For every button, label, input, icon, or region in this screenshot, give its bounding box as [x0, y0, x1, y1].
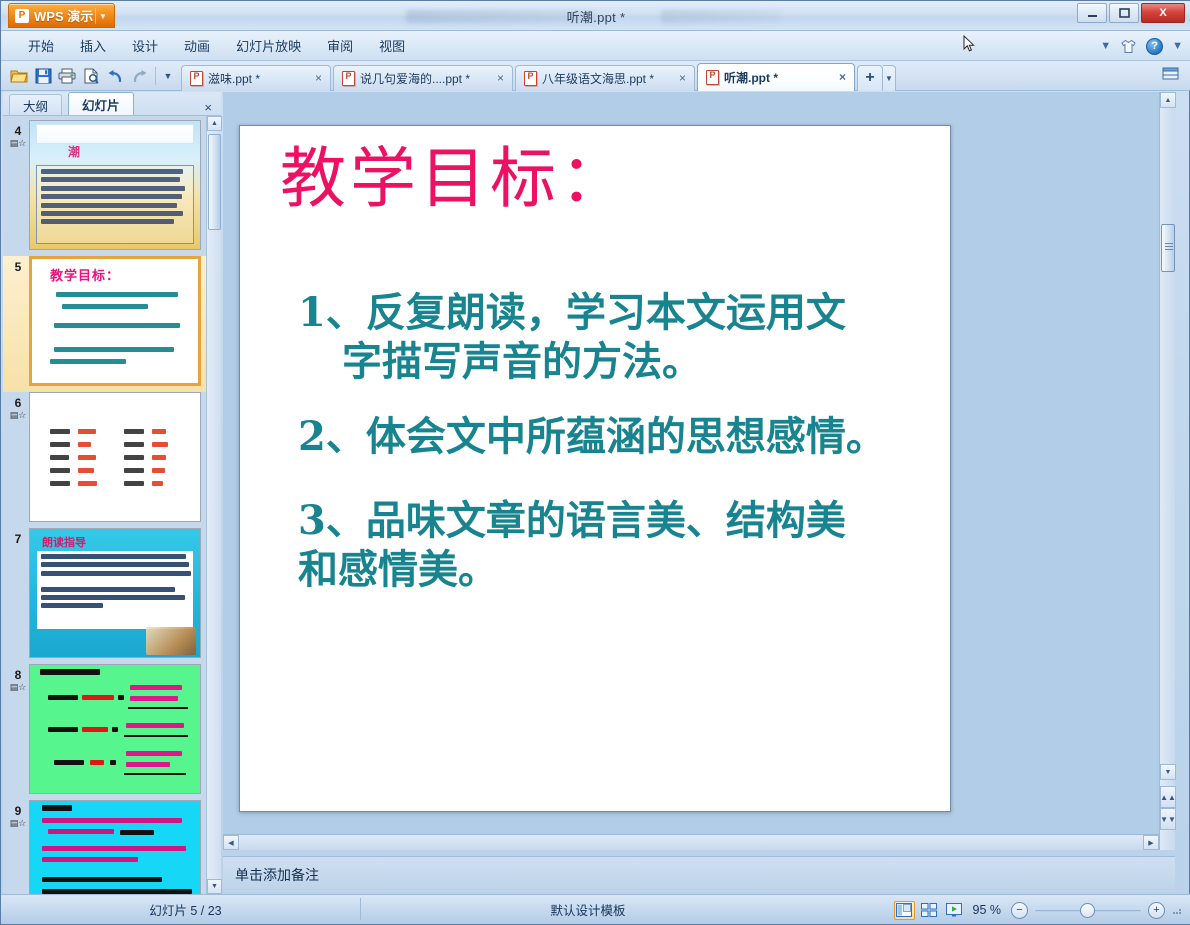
thumbnail-preview	[29, 392, 201, 522]
doc-tab-label: 八年级语文海思.ppt *	[542, 70, 654, 87]
toolbar: ▼ 滋味.ppt * × 说几句爱海的....ppt * × 八年级语文海思.p…	[1, 61, 1190, 91]
doc-tab-1[interactable]: 说几句爱海的....ppt * ×	[333, 65, 513, 91]
animation-star-icon: ▤☆	[7, 410, 29, 421]
thumbnail-meta: 8 ▤☆	[7, 664, 29, 794]
close-button[interactable]: X	[1141, 3, 1185, 23]
status-bar: 幻灯片 5 / 23 默认设计模板	[1, 894, 1190, 924]
chevron-down-icon[interactable]: ▼	[95, 8, 110, 24]
scroll-down-icon[interactable]: ▼	[207, 879, 222, 894]
thumbnail-meta: 6 ▤☆	[7, 392, 29, 522]
slide7-decorative-image	[146, 627, 196, 655]
menu-item-start[interactable]: 开始	[15, 32, 67, 59]
chevron-down-small-icon[interactable]: ▼	[1172, 40, 1183, 52]
redo-icon[interactable]	[128, 65, 150, 87]
print-icon[interactable]	[56, 65, 78, 87]
status-bar-right: 95 % − +	[894, 898, 1184, 922]
slide-bullet-2: 2、体会文中所蕴涵的思想感情。	[272, 412, 932, 461]
mouse-cursor-icon	[963, 35, 975, 53]
slide-title-text[interactable]: 教学目标：	[280, 142, 630, 216]
scroll-up-icon[interactable]: ▲	[207, 116, 222, 131]
slide4-title: 潮	[68, 143, 80, 160]
menu-bar-right-icons: ▼ ? ▼	[1100, 31, 1183, 61]
bullet-2-line-1: 2、体会文中所蕴涵的思想感情。	[298, 413, 886, 460]
menu-item-view[interactable]: 视图	[366, 32, 418, 59]
animation-star-icon: ▤☆	[7, 682, 29, 693]
thumbnail-number: 8	[7, 668, 29, 682]
ppt-file-icon	[706, 70, 719, 85]
animation-star-icon: ▤☆	[7, 818, 29, 829]
minimize-button[interactable]	[1077, 3, 1107, 23]
bullet-3-line-1: 3、品味文章的语言美、结构美	[298, 497, 846, 544]
thumbnail-meta: 4 ▤☆	[7, 120, 29, 250]
slide7-title: 朗读指导	[42, 534, 86, 550]
panel-tab-bar: 大纲 幻灯片 ×	[3, 92, 221, 116]
normal-view-icon[interactable]	[894, 901, 915, 920]
previous-slide-button[interactable]: ▲▲	[1160, 786, 1176, 808]
ppt-file-icon	[190, 71, 203, 86]
bullet-1-line-2: 字描写声音的方法。	[298, 337, 932, 386]
maximize-button[interactable]	[1109, 3, 1139, 23]
open-folder-icon[interactable]	[8, 65, 30, 87]
title-bar: 听潮.ppt * P WPS 演示 ▼ X	[1, 1, 1190, 31]
notes-placeholder: 单击添加备注	[235, 865, 1175, 885]
thumbnail-item-7[interactable]: 7 朗读指导	[3, 528, 206, 664]
slide-sorter-icon[interactable]	[919, 901, 940, 920]
undo-icon[interactable]	[104, 65, 126, 87]
tab-slides[interactable]: 幻灯片	[68, 92, 134, 115]
doc-tab-close-icon[interactable]: ×	[669, 71, 686, 85]
thumbnail-preview: 教学目标：	[29, 256, 201, 386]
slides-panel: 大纲 幻灯片 × 4 ▤☆ 潮	[3, 92, 221, 894]
slide9-title-bar	[42, 805, 72, 811]
doc-tab-close-icon[interactable]: ×	[487, 71, 504, 85]
window-arrange-icon[interactable]	[1161, 66, 1181, 84]
zoom-in-button[interactable]: +	[1148, 902, 1165, 919]
scroll-right-icon[interactable]: ▶	[1143, 835, 1159, 850]
slideshow-icon[interactable]	[944, 901, 965, 920]
window-title: 听潮.ppt *	[1, 1, 1190, 31]
doc-tab-label: 说几句爱海的....ppt *	[360, 70, 470, 87]
zoom-slider-handle[interactable]	[1080, 903, 1095, 918]
notes-pane[interactable]: 单击添加备注	[223, 856, 1175, 894]
doc-tab-close-icon[interactable]: ×	[829, 70, 846, 84]
doc-tab-2[interactable]: 八年级语文海思.ppt * ×	[515, 65, 695, 91]
scroll-up-icon[interactable]: ▲	[1160, 92, 1176, 108]
doc-tab-close-icon[interactable]: ×	[305, 71, 322, 85]
zoom-out-button[interactable]: −	[1011, 902, 1028, 919]
thumbnail-item-9[interactable]: 9 ▤☆	[3, 800, 206, 894]
scroll-down-icon[interactable]: ▼	[1160, 764, 1176, 780]
doc-tab-0[interactable]: 滋味.ppt * ×	[181, 65, 331, 91]
scrollbar-thumb[interactable]	[208, 134, 221, 230]
doc-tab-3-active[interactable]: 听潮.ppt * ×	[697, 63, 855, 91]
slide8-title-bar	[40, 669, 100, 675]
design-template-label: 默认设计模板	[373, 898, 803, 920]
thumbnail-preview	[29, 664, 201, 794]
thumbnail-preview: 潮	[29, 120, 201, 250]
panel-close-icon[interactable]: ×	[204, 100, 212, 115]
slide-bullet-3: 3、品味文章的语言美、结构美 和感情美。	[272, 496, 932, 594]
customize-caret-icon[interactable]: ▼	[161, 65, 175, 87]
next-slide-button[interactable]: ▼▼	[1160, 808, 1176, 830]
bullet-3-line-2: 和感情美。	[298, 545, 932, 594]
thumbnail-item-4[interactable]: 4 ▤☆ 潮	[3, 120, 206, 256]
thumbnail-number: 6	[7, 396, 29, 410]
new-tab-button[interactable]: +	[857, 65, 883, 91]
thumbnail-preview: 朗读指导	[29, 528, 201, 658]
skin-icon[interactable]	[1120, 39, 1137, 54]
slide7-body-box	[37, 551, 193, 629]
thumbnail-list: 4 ▤☆ 潮	[3, 116, 206, 894]
slide-canvas[interactable]: 教学目标： 1、反复朗读，学习本文运用文 字描写声音的方法。 2、体会文中所蕴涵…	[239, 125, 951, 812]
animation-star-icon: ▤☆	[7, 138, 29, 149]
resize-grip-icon[interactable]	[1171, 904, 1183, 916]
wps-presentation-window: 听潮.ppt * P WPS 演示 ▼ X 开始 插入 设计 动画 幻灯片放映 …	[0, 0, 1190, 925]
ppt-file-icon	[342, 71, 355, 86]
print-preview-icon[interactable]	[80, 65, 102, 87]
slide-counter: 幻灯片 5 / 23	[11, 898, 361, 920]
wps-app-button[interactable]: P WPS 演示 ▼	[8, 3, 115, 28]
thumbnail-number: 5	[7, 260, 29, 274]
help-icon[interactable]: ?	[1146, 38, 1163, 55]
slide-bullet-1: 1、反复朗读，学习本文运用文 字描写声音的方法。	[272, 288, 932, 386]
thumbnail-number: 4	[7, 124, 29, 138]
menu-bar: 开始 插入 设计 动画 幻灯片放映 审阅 视图 ▼ ? ▼	[1, 31, 1190, 61]
thumbnail-item-8[interactable]: 8 ▤☆	[3, 664, 206, 800]
thumbnail-scrollbar[interactable]: ▲ ▼	[206, 116, 221, 894]
slide-body-text[interactable]: 1、反复朗读，学习本文运用文 字描写声音的方法。 2、体会文中所蕴涵的思想感情。…	[272, 288, 932, 620]
scroll-left-icon[interactable]: ◀	[223, 835, 239, 850]
zoom-slider[interactable]	[1032, 902, 1144, 919]
ppt-file-icon	[524, 71, 537, 86]
slide4-body	[36, 165, 194, 244]
toolbar-divider	[155, 67, 156, 85]
thumbnail-number: 7	[7, 532, 29, 546]
zoom-percent-label: 95 %	[973, 903, 1002, 917]
app-name-label: WPS 演示	[34, 6, 93, 25]
slide-horizontal-scrollbar[interactable]: ◀ ▶	[223, 834, 1159, 850]
save-icon[interactable]	[32, 65, 54, 87]
menu-item-slideshow[interactable]: 幻灯片放映	[223, 32, 314, 59]
thumbnail-meta: 5	[7, 256, 29, 386]
menu-item-insert[interactable]: 插入	[67, 32, 119, 59]
slide-vertical-scrollbar[interactable]: ▲ ▼ ▲▲ ▼▼	[1159, 92, 1175, 850]
menu-item-review[interactable]: 审阅	[314, 32, 366, 59]
thumbnail-meta: 9 ▤☆	[7, 800, 29, 894]
menu-item-animation[interactable]: 动画	[171, 32, 223, 59]
thumbnail-number: 9	[7, 804, 29, 818]
doc-tab-label: 听潮.ppt *	[724, 69, 778, 86]
document-tabs: 滋味.ppt * × 说几句爱海的....ppt * × 八年级语文海思.ppt…	[181, 61, 896, 91]
menu-item-design[interactable]: 设计	[119, 32, 171, 59]
thumbnail-item-6[interactable]: 6 ▤☆	[3, 392, 206, 528]
slide4-header-band	[36, 124, 194, 144]
bullet-1-line-1: 1、反复朗读，学习本文运用文	[298, 289, 846, 336]
chevron-down-icon[interactable]: ▼	[1100, 40, 1111, 52]
wps-logo-icon: P	[15, 9, 29, 23]
new-tab-caret-icon[interactable]: ▼	[883, 65, 896, 91]
scrollbar-thumb[interactable]	[1161, 224, 1175, 272]
thumbnail-item-5-selected[interactable]: 5 教学目标：	[3, 256, 206, 392]
window-controls: X	[1077, 3, 1185, 23]
doc-tab-label: 滋味.ppt *	[208, 70, 260, 87]
thumbnail-meta: 7	[7, 528, 29, 658]
tab-outline[interactable]: 大纲	[9, 94, 62, 115]
thumbnail-scroll-region: 4 ▤☆ 潮	[3, 116, 221, 894]
slide5-title: 教学目标：	[50, 265, 120, 284]
thumbnail-preview	[29, 800, 201, 894]
